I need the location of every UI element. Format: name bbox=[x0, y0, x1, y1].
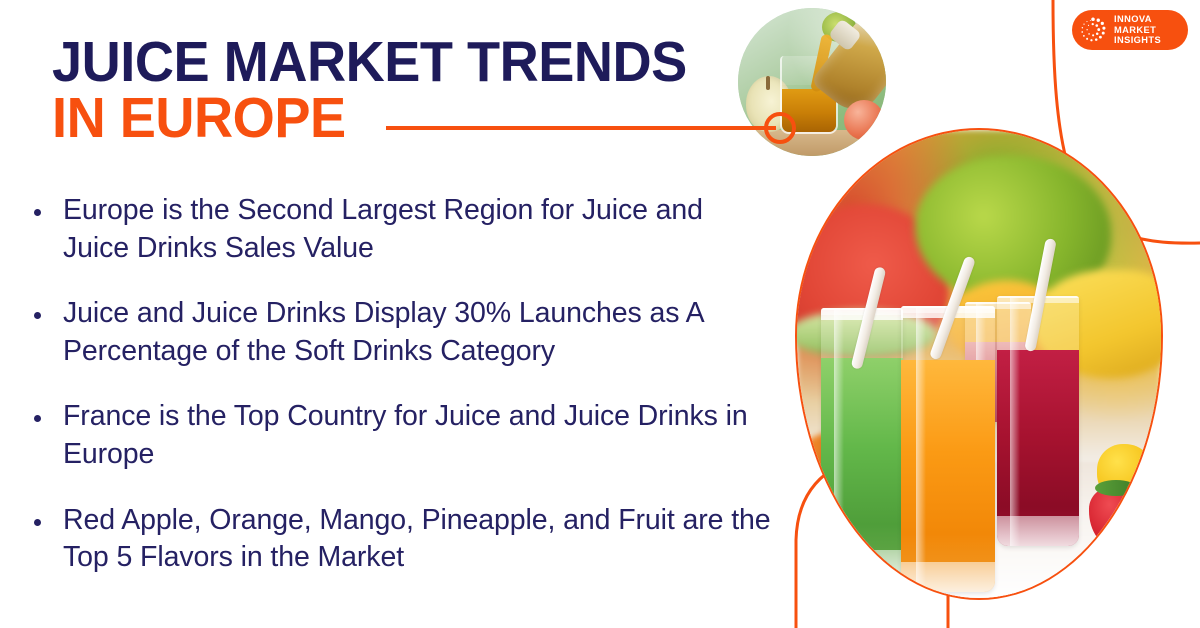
list-item-label: France is the Top Country for Juice and … bbox=[63, 398, 775, 473]
apple-core bbox=[766, 76, 770, 90]
orange-ring-marker bbox=[764, 112, 796, 144]
key-findings-list: Europe is the Second Largest Region for … bbox=[28, 192, 788, 605]
innova-market-insights-logo[interactable]: INNOVA MARKET INSIGHTS bbox=[1072, 10, 1188, 50]
orange-juice-glass bbox=[901, 306, 995, 592]
glass-highlight bbox=[1010, 296, 1020, 546]
logo-line-2: MARKET bbox=[1114, 25, 1161, 36]
glass-highlight bbox=[834, 308, 844, 580]
three-juice-glasses-photo bbox=[795, 128, 1163, 600]
bullet-dot-icon bbox=[34, 312, 41, 319]
list-item-label: Juice and Juice Drinks Display 30% Launc… bbox=[63, 295, 775, 370]
list-item: Juice and Juice Drinks Display 30% Launc… bbox=[28, 295, 788, 370]
title-line-secondary: IN EUROPE bbox=[52, 92, 687, 144]
list-item: France is the Top Country for Juice and … bbox=[28, 398, 788, 473]
logo-wordmark: INNOVA MARKET INSIGHTS bbox=[1114, 14, 1161, 47]
list-item-label: Europe is the Second Largest Region for … bbox=[63, 192, 775, 267]
dotted-circle-icon bbox=[1079, 16, 1107, 44]
infographic-canvas: JUICE MARKET TRENDS IN EUROPE Europe is … bbox=[0, 0, 1200, 628]
list-item: Europe is the Second Largest Region for … bbox=[28, 192, 788, 267]
bullet-dot-icon bbox=[34, 519, 41, 526]
logo-line-1: INNOVA bbox=[1114, 14, 1161, 25]
list-item-label: Red Apple, Orange, Mango, Pineapple, and… bbox=[63, 502, 775, 577]
bullet-dot-icon bbox=[34, 415, 41, 422]
list-item: Red Apple, Orange, Mango, Pineapple, and… bbox=[28, 502, 788, 577]
logo-line-3: INSIGHTS bbox=[1114, 35, 1161, 46]
title-line-primary: JUICE MARKET TRENDS bbox=[52, 36, 687, 88]
bullet-dot-icon bbox=[34, 209, 41, 216]
title-underline-rule bbox=[386, 126, 776, 130]
glass-highlight bbox=[916, 306, 926, 592]
